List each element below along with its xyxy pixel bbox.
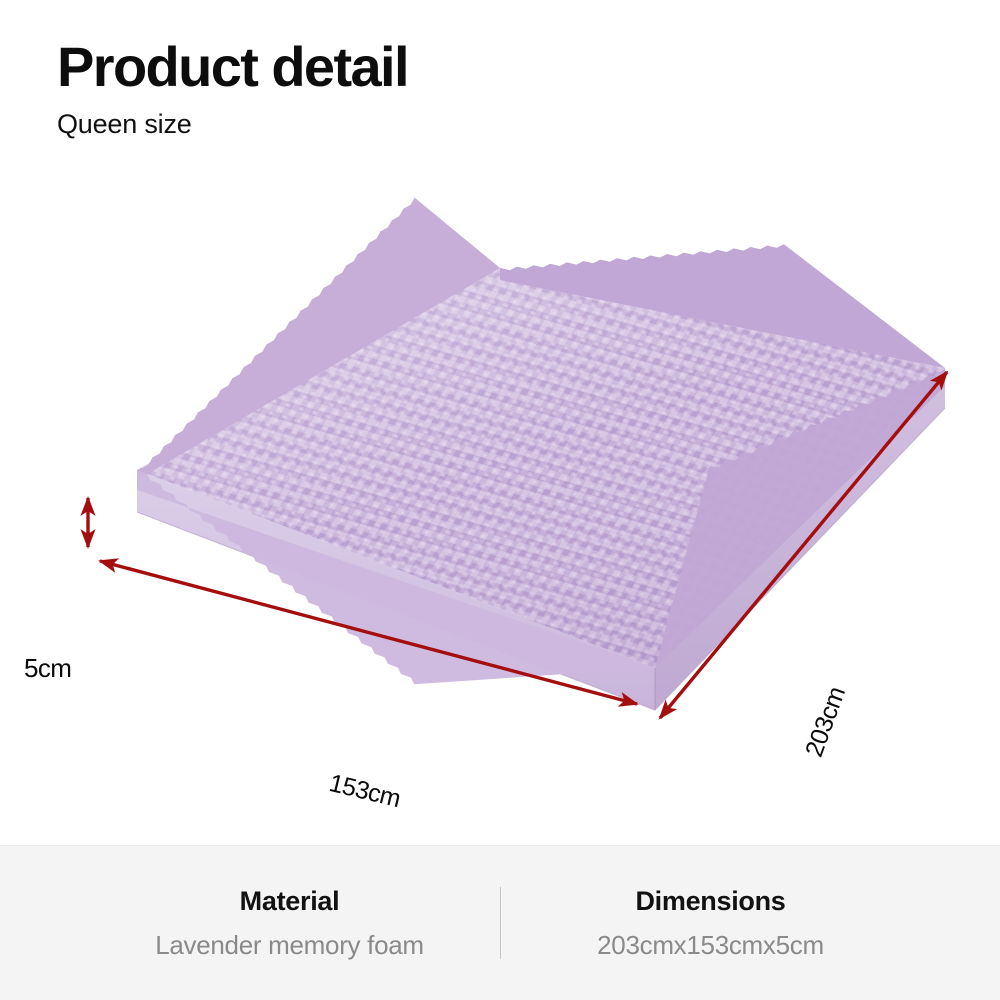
product-illustration: 5cm 153cm 203cm (0, 150, 1000, 845)
page-subtitle: Queen size (57, 109, 1000, 140)
spec-item-dimensions: Dimensions 203cmx153cmx5cm (501, 886, 921, 961)
foam-slab (137, 198, 945, 710)
spec-item-material: Material Lavender memory foam (80, 886, 500, 961)
page-title: Product detail (57, 38, 1000, 95)
product-detail-page: Product detail Queen size (0, 0, 1000, 1000)
specification-bar: Material Lavender memory foam Dimensions… (0, 845, 1000, 1000)
product-diagram (0, 150, 1000, 845)
spec-title-dimensions: Dimensions (519, 886, 903, 917)
page-header: Product detail Queen size (0, 0, 1000, 140)
spec-title-material: Material (98, 886, 482, 917)
dimension-label-height: 5cm (24, 653, 71, 684)
spec-value-material: Lavender memory foam (98, 930, 482, 961)
spec-value-dimensions: 203cmx153cmx5cm (519, 930, 903, 961)
